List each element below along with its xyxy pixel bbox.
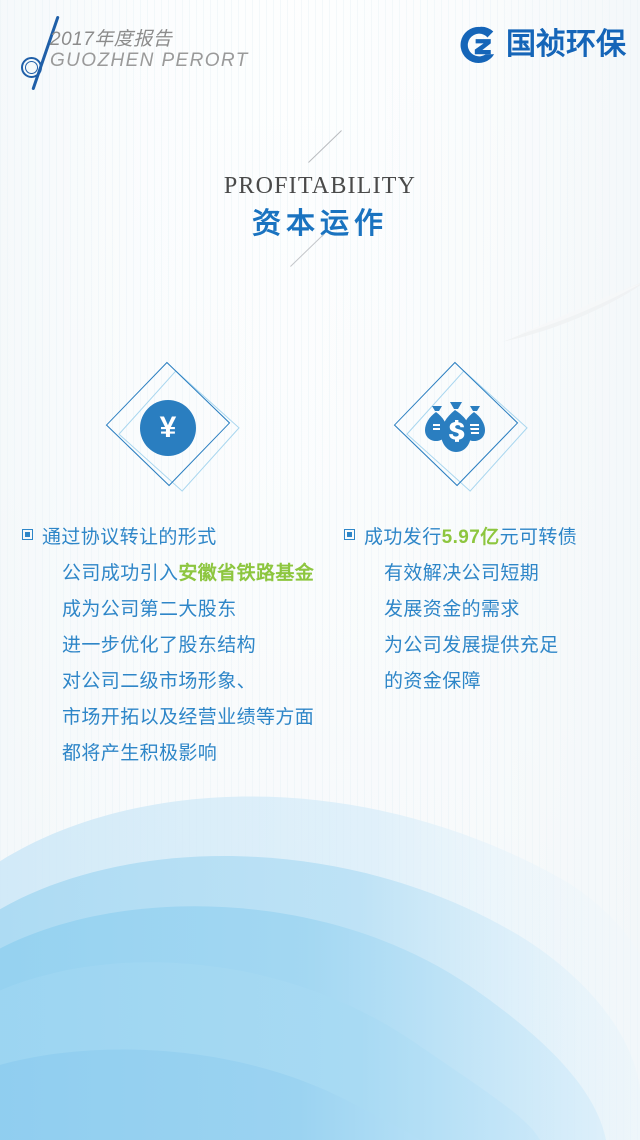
- text-segment: 公司成功引入: [62, 563, 178, 584]
- text-segment: 的资金保障: [384, 671, 481, 692]
- logo-wordmark: 国祯环保: [506, 24, 626, 66]
- column-capital-transfer: 通过协议转让的形式公司成功引入安徽省铁路基金成为公司第二大股东进一步优化了股东结…: [22, 520, 342, 772]
- text-segment: 进一步优化了股东结构: [62, 635, 256, 656]
- text-segment: 通过协议转让的形式: [42, 527, 217, 548]
- guozhen-circle-z-logo-icon: [458, 24, 500, 66]
- title-line-top-decoration: [308, 130, 342, 163]
- icon-capital-transfer: ¥: [108, 372, 238, 492]
- report-year-cn: 2017年度报告: [50, 30, 249, 50]
- text-line: 有效解决公司短期: [364, 556, 634, 592]
- icon-convertible-bond: [396, 372, 526, 492]
- text-segment: 对公司二级市场形象、: [62, 671, 256, 692]
- text-line: 都将产生积极影响: [42, 736, 342, 772]
- text-line: 进一步优化了股东结构: [42, 628, 342, 664]
- text-line: 成为公司第二大股东: [42, 592, 342, 628]
- section-title-cn: 资本运作: [0, 210, 640, 239]
- text-line: 为公司发展提供充足: [364, 628, 634, 664]
- bottom-wave-decoration: [0, 760, 640, 1140]
- bullet-row: 通过协议转让的形式公司成功引入安徽省铁路基金成为公司第二大股东进一步优化了股东结…: [22, 520, 342, 772]
- text-segment: 元可转债: [500, 527, 578, 548]
- header-titles: 2017年度报告 GUOZHEN PERORT: [50, 30, 249, 71]
- text-segment: 为公司发展提供充足: [384, 635, 559, 656]
- text-segment: 发展资金的需求: [384, 599, 520, 620]
- section-title-en: PROFITABILITY: [0, 174, 640, 198]
- text-line: 对公司二级市场形象、: [42, 664, 342, 700]
- highlighted-text: 安徽省铁路基金: [178, 563, 314, 584]
- column-text-capital-transfer: 通过协议转让的形式公司成功引入安徽省铁路基金成为公司第二大股东进一步优化了股东结…: [42, 520, 342, 772]
- column-convertible-bond: 成功发行5.97亿元可转债有效解决公司短期发展资金的需求为公司发展提供充足的资金…: [344, 520, 634, 700]
- report-year-en: GUOZHEN PERORT: [50, 51, 249, 71]
- text-line: 的资金保障: [364, 664, 634, 700]
- money-bags-icon: [422, 398, 490, 460]
- square-bullet-icon: [344, 529, 355, 540]
- text-segment: 有效解决公司短期: [384, 563, 539, 584]
- text-line: 通过协议转让的形式: [42, 520, 342, 556]
- circle-inner-ring-icon: [25, 61, 38, 74]
- text-segment: 都将产生积极影响: [62, 743, 217, 764]
- square-bullet-icon: [22, 529, 33, 540]
- text-line: 市场开拓以及经营业绩等方面: [42, 700, 342, 736]
- company-logo: 国祯环保: [458, 24, 626, 66]
- text-line: 公司成功引入安徽省铁路基金: [42, 556, 342, 592]
- text-segment: 市场开拓以及经营业绩等方面: [62, 707, 314, 728]
- page-header: 2017年度报告 GUOZHEN PERORT 国祯环保: [0, 0, 640, 105]
- swoosh-decoration: [500, 278, 640, 348]
- bullet-row: 成功发行5.97亿元可转债有效解决公司短期发展资金的需求为公司发展提供充足的资金…: [344, 520, 634, 700]
- text-line: 发展资金的需求: [364, 592, 634, 628]
- text-line: 成功发行5.97亿元可转债: [364, 520, 634, 556]
- column-text-convertible-bond: 成功发行5.97亿元可转债有效解决公司短期发展资金的需求为公司发展提供充足的资金…: [364, 520, 634, 700]
- section-title-block: PROFITABILITY 资本运作: [0, 150, 640, 239]
- highlighted-text: 5.97亿: [442, 527, 500, 548]
- yen-currency-icon: ¥: [140, 400, 196, 456]
- report-page: 2017年度报告 GUOZHEN PERORT 国祯环保 PROFITABILI…: [0, 0, 640, 1140]
- text-segment: 成为公司第二大股东: [62, 599, 237, 620]
- text-segment: 成功发行: [364, 527, 442, 548]
